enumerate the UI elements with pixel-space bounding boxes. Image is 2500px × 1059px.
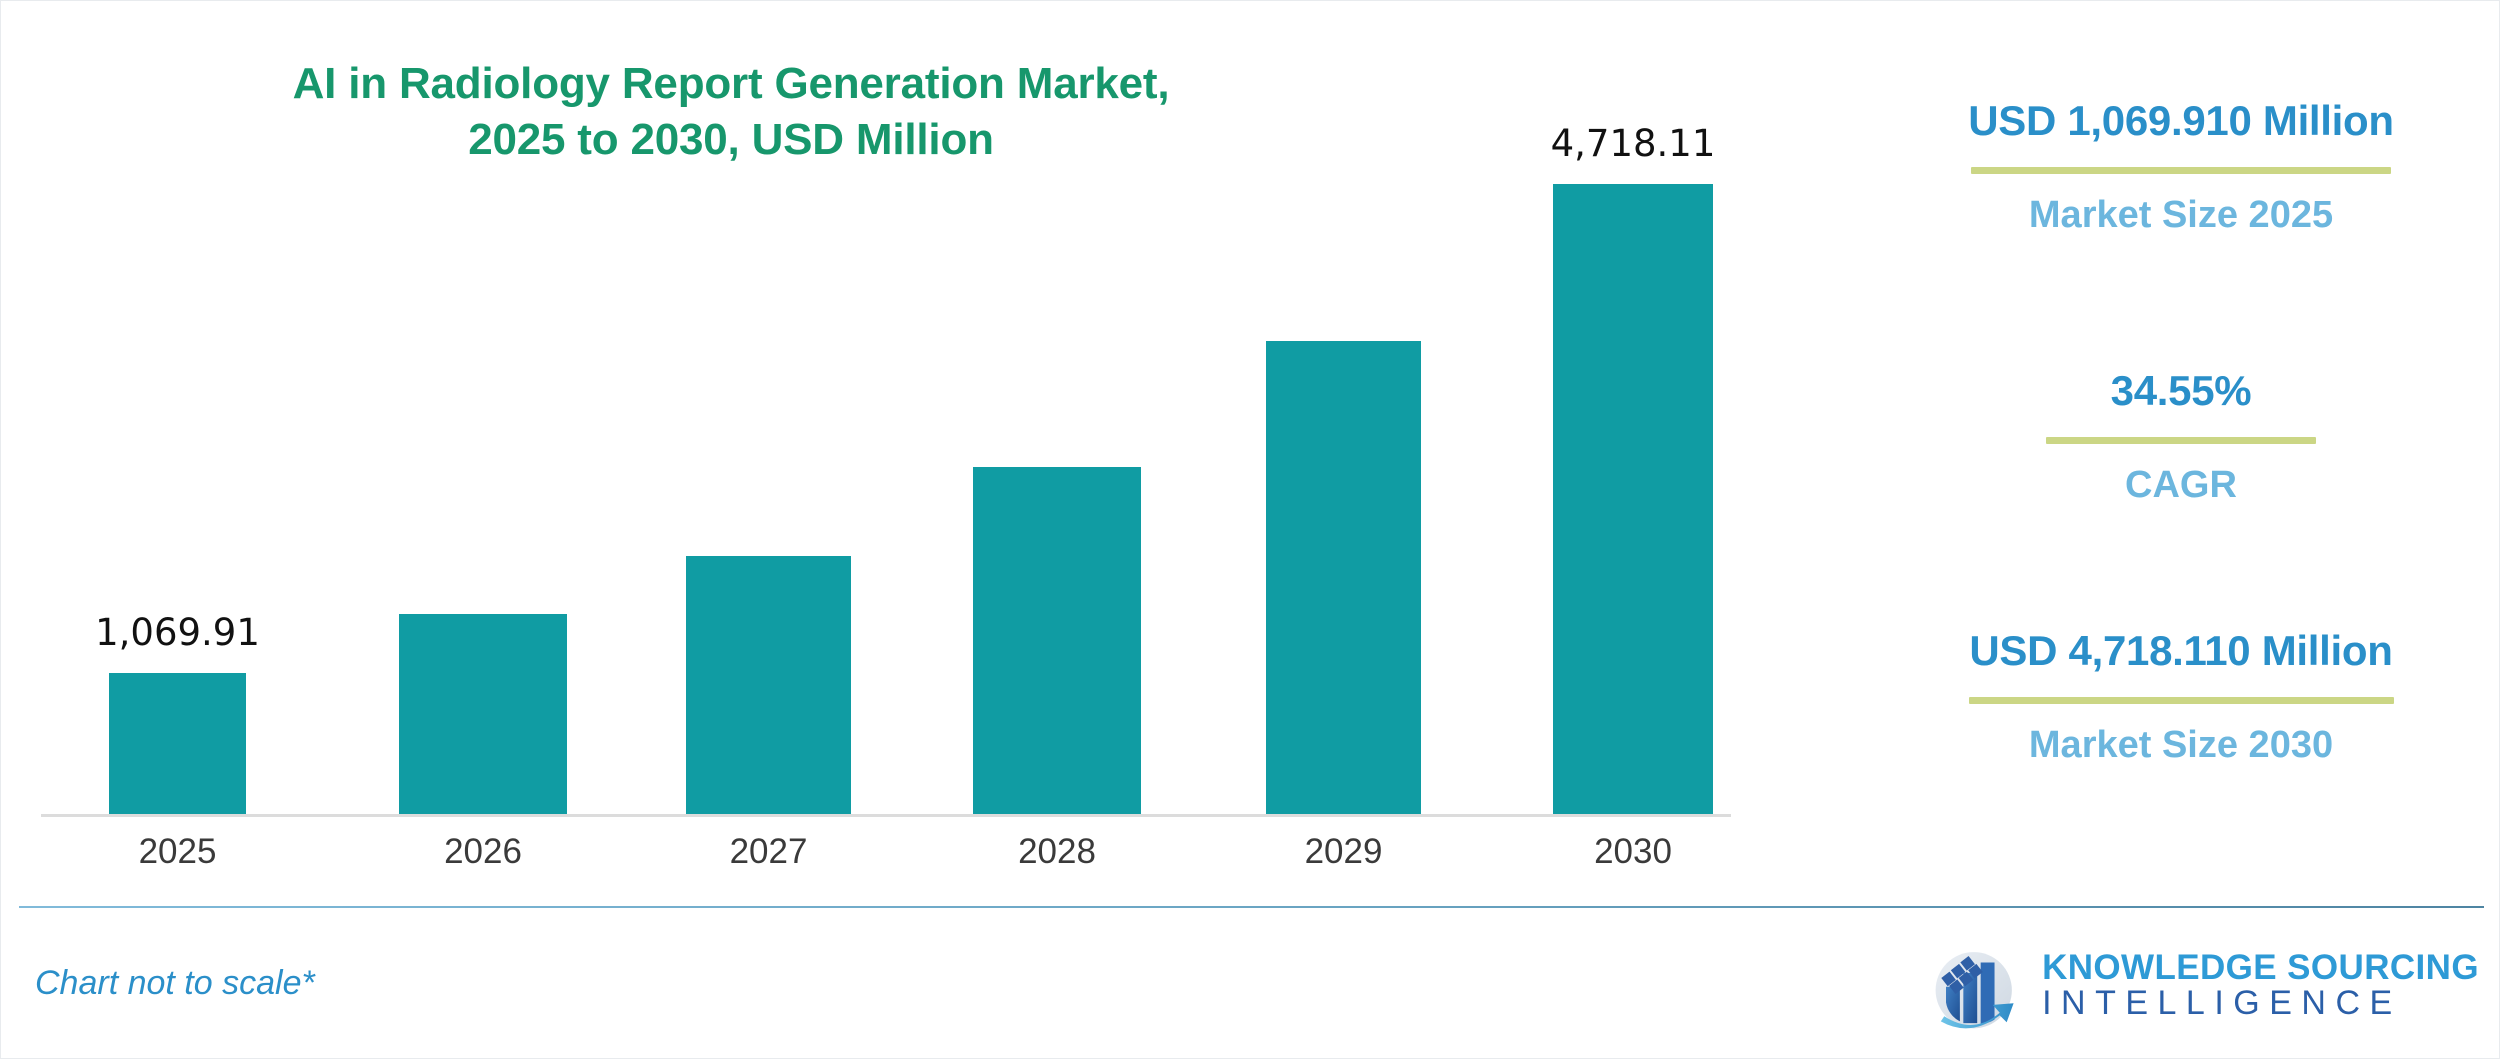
bar-2025[interactable] (109, 673, 246, 814)
bar-2030[interactable] (1553, 184, 1713, 814)
knowledge-sourcing-globe-icon (1920, 933, 2024, 1037)
bar-group-2025[interactable]: 1,069.91 2025 (109, 673, 246, 814)
stat-value-market-size-2030: USD 4,718.110 Million (1861, 627, 2500, 675)
bar-group-2027[interactable]: 2027 (686, 556, 851, 814)
bar-group-2026[interactable]: 2026 (399, 614, 567, 814)
bar-2029[interactable] (1266, 341, 1421, 814)
stat-label-market-size-2025: Market Size 2025 (1861, 194, 2500, 237)
brand-logo: KNOWLEDGE SOURCING INTELLIGENCE (1920, 926, 2479, 1044)
brand-name-secondary: INTELLIGENCE (2042, 986, 2479, 1021)
stat-market-size-2025: USD 1,069.910 Million Market Size 2025 (1861, 97, 2500, 237)
brand-name-primary: KNOWLEDGE SOURCING (2042, 950, 2479, 986)
bar-2028[interactable] (973, 467, 1141, 814)
bar-category-2029: 2029 (1194, 832, 1494, 872)
brand-wordmark: KNOWLEDGE SOURCING INTELLIGENCE (2042, 950, 2479, 1020)
stat-label-cagr: CAGR (1861, 464, 2500, 507)
x-axis-line (41, 814, 1731, 817)
bar-category-2025: 2025 (28, 832, 328, 872)
stat-cagr: 34.55% CAGR (1861, 367, 2500, 507)
stat-label-market-size-2030: Market Size 2030 (1861, 724, 2500, 767)
bar-category-2026: 2026 (333, 832, 633, 872)
footer-divider (19, 906, 2484, 908)
stat-divider (1971, 167, 2391, 174)
stat-value-market-size-2025: USD 1,069.910 Million (1861, 97, 2500, 145)
bar-chart-plot: 1,069.91 2025 2026 2027 2028 (1, 1, 1841, 901)
bar-group-2028[interactable]: 2028 (973, 467, 1141, 814)
key-stats-panel: USD 1,069.910 Million Market Size 2025 3… (1861, 1, 2500, 891)
bar-category-2030: 2030 (1483, 832, 1783, 872)
bar-value-2025: 1,069.91 (28, 611, 328, 654)
market-chart-infographic: AI in Radiology Report Generation Market… (0, 0, 2500, 1059)
bar-value-2030: 4,718.11 (1483, 122, 1783, 165)
bar-2026[interactable] (399, 614, 567, 814)
bar-category-2028: 2028 (907, 832, 1207, 872)
bar-category-2027: 2027 (619, 832, 919, 872)
chart-scale-note: Chart not to scale* (35, 964, 315, 1003)
bar-2027[interactable] (686, 556, 851, 814)
stat-market-size-2030: USD 4,718.110 Million Market Size 2030 (1861, 627, 2500, 767)
bar-group-2030[interactable]: 4,718.11 2030 (1553, 184, 1713, 814)
bar-group-2029[interactable]: 2029 (1266, 341, 1421, 814)
stat-divider (2046, 437, 2316, 444)
chart-panel: AI in Radiology Report Generation Market… (1, 1, 1841, 901)
stat-divider (1969, 697, 2394, 704)
stat-value-cagr: 34.55% (1861, 367, 2500, 415)
